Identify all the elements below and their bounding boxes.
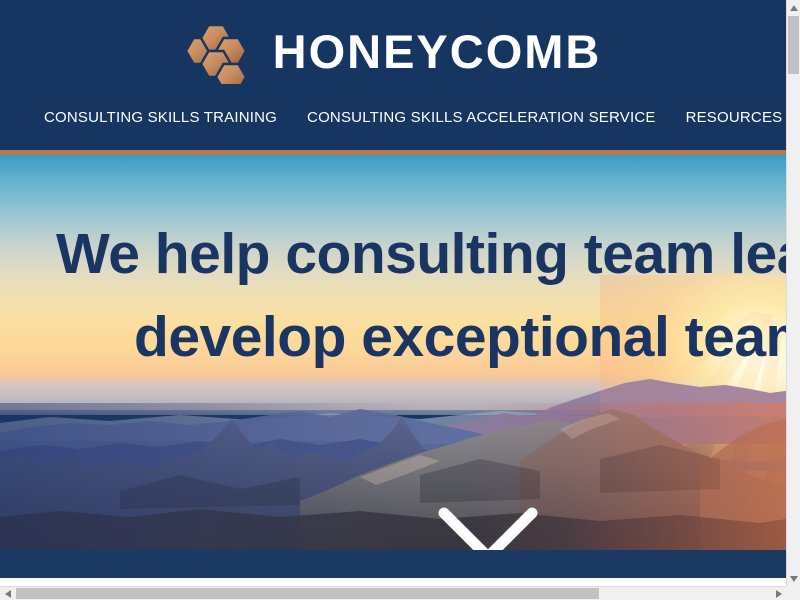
brand-name: HONEYCOMB	[273, 28, 602, 75]
triangle-left-icon[interactable]	[0, 587, 15, 600]
nav-item-resources[interactable]: RESOURCES	[686, 109, 783, 126]
brand-logo-block[interactable]: HONEYCOMB	[0, 12, 786, 90]
page-viewport: HONEYCOMB CONSULTING SKILLS TRAINING CON…	[0, 0, 786, 578]
site-header: HONEYCOMB CONSULTING SKILLS TRAINING CON…	[0, 0, 786, 150]
below-hero-navy-band	[0, 550, 786, 578]
scrollbar-corner	[786, 586, 800, 600]
chevron-down-icon[interactable]	[438, 507, 538, 550]
hero-section: We help consulting team leaders develop …	[0, 155, 786, 550]
hero-headline-line-1: We help consulting team leaders	[56, 222, 786, 286]
triangle-up-icon[interactable]	[787, 0, 800, 15]
hero-headline-line-2: develop exceptional teams	[56, 296, 786, 379]
hero-headline: We help consulting team leaders develop …	[0, 213, 786, 379]
foreground-rocky-mountains	[0, 405, 786, 550]
main-nav: CONSULTING SKILLS TRAINING CONSULTING SK…	[0, 100, 786, 134]
vertical-scrollbar[interactable]	[786, 0, 800, 586]
horizontal-scrollbar[interactable]	[0, 586, 786, 600]
triangle-down-icon[interactable]	[787, 571, 800, 586]
horizontal-scroll-thumb[interactable]	[16, 588, 599, 599]
honeycomb-hexagons-icon	[185, 18, 257, 84]
nav-item-consulting-skills-training[interactable]: CONSULTING SKILLS TRAINING	[44, 109, 277, 126]
nav-item-consulting-skills-acceleration-service[interactable]: CONSULTING SKILLS ACCELERATION SERVICE	[307, 109, 656, 126]
vertical-scroll-thumb[interactable]	[788, 16, 799, 74]
triangle-right-icon[interactable]	[771, 587, 786, 600]
